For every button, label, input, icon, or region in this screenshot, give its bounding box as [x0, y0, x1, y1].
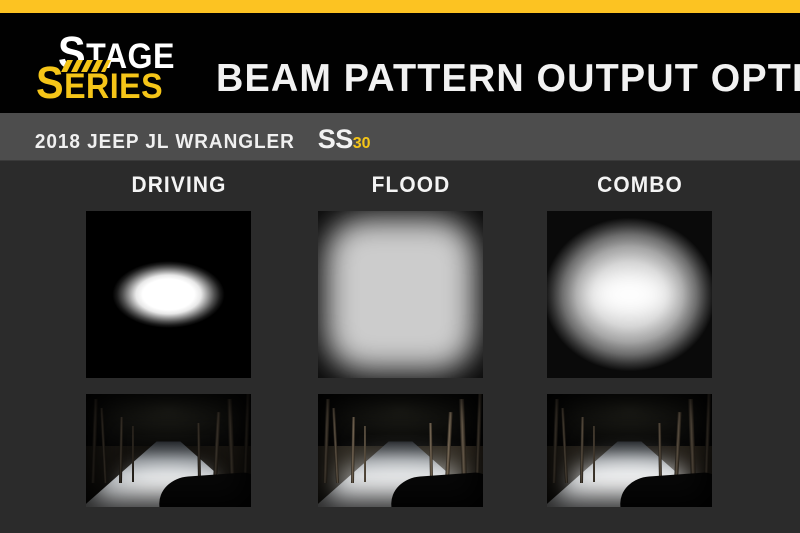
- logo-slash-icon: [61, 60, 111, 72]
- photo-vignette: [86, 394, 251, 507]
- column-label-driving: DRIVING: [70, 172, 289, 198]
- column-label-flood: FLOOD: [302, 172, 521, 198]
- subtitle-content: 2018 JEEP JL WRANGLER SS30: [28, 124, 371, 155]
- product-model: SS30: [318, 124, 371, 155]
- page-title: BEAM PATTERN OUTPUT OPTIONS: [216, 59, 800, 98]
- beam-pattern-combo: [547, 211, 712, 378]
- road-photo-flood: [318, 394, 483, 507]
- header-band: STAGE SERIES BEAM PATTERN OUTPUT OPTIONS: [0, 13, 800, 113]
- beam-gradient-flood: [318, 211, 483, 378]
- beam-gradient-combo: [547, 211, 712, 378]
- logo-series-cap: S: [36, 57, 64, 108]
- beam-pattern-flood: [318, 211, 483, 378]
- subtitle-band: 2018 JEEP JL WRANGLER SS30: [0, 113, 800, 161]
- column-flood: FLOOD: [296, 160, 526, 533]
- column-label-combo: COMBO: [531, 172, 750, 198]
- column-combo: COMBO: [525, 160, 755, 533]
- model-prefix: SS: [318, 124, 353, 154]
- beam-pattern-infographic: STAGE SERIES BEAM PATTERN OUTPUT OPTIONS…: [0, 0, 800, 533]
- column-driving: DRIVING: [64, 160, 294, 533]
- beam-gradient-driving: [86, 211, 251, 378]
- comparison-columns: DRIVING: [0, 160, 800, 533]
- vehicle-name: 2018 JEEP JL WRANGLER: [35, 131, 295, 154]
- logo-series-rest: ERIES: [64, 67, 163, 106]
- stage-series-logo: STAGE SERIES: [36, 26, 196, 104]
- photo-vignette: [547, 394, 712, 507]
- model-number: 30: [353, 135, 371, 152]
- top-accent-rule: [0, 0, 800, 13]
- photo-vignette: [318, 394, 483, 507]
- beam-pattern-driving: [86, 211, 251, 378]
- road-photo-combo: [547, 394, 712, 507]
- road-photo-driving: [86, 394, 251, 507]
